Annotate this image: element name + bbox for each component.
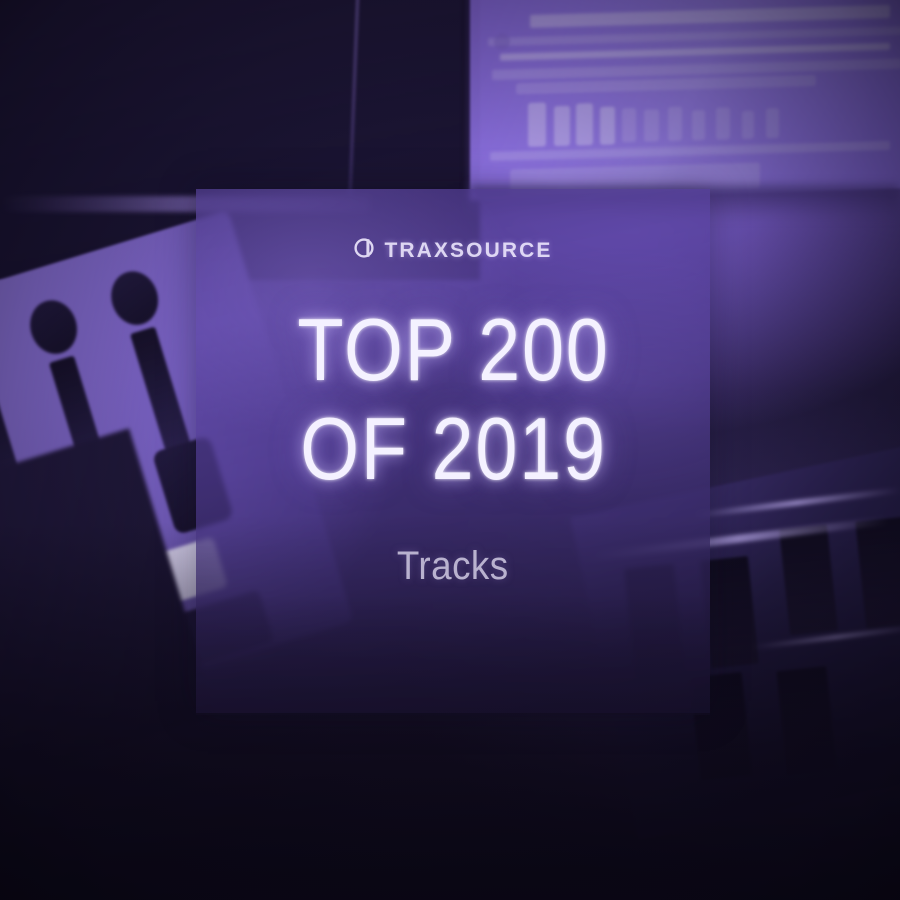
page-title: TOP 200 OF 2019 bbox=[297, 307, 609, 492]
traxsource-logo: TRAXSOURCE bbox=[353, 236, 552, 265]
traxsource-wordmark: TRAXSOURCE bbox=[384, 240, 552, 261]
album-artwork: TRAXSOURCE TOP 200 OF 2019 Tracks bbox=[0, 0, 900, 900]
title-line-2: OF 2019 bbox=[297, 406, 609, 491]
subtitle: Tracks bbox=[397, 544, 509, 589]
artwork-card: TRAXSOURCE TOP 200 OF 2019 Tracks bbox=[196, 189, 710, 713]
title-line-1: TOP 200 bbox=[297, 307, 609, 392]
traxsource-circle-icon bbox=[353, 236, 377, 265]
